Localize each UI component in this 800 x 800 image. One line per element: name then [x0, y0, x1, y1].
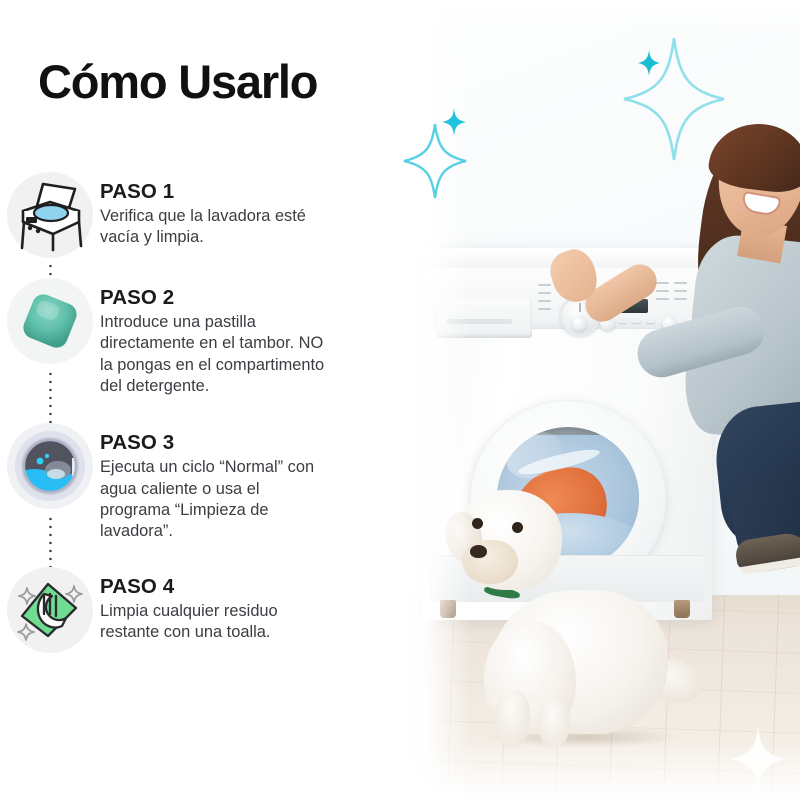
step-item-3: PASO 3 Ejecuta un ciclo “Normal” con agu… [0, 423, 400, 542]
step-2-body: Introduce una pastilla directamente en e… [100, 312, 328, 397]
step-3-body: Ejecuta un ciclo “Normal” con agua calie… [100, 457, 328, 542]
step-2-text: PASO 2 Introduce una pastilla directamen… [100, 278, 346, 397]
step-3-heading: PASO 3 [100, 431, 328, 455]
step-icon-column [0, 172, 100, 258]
step-item-4: PASO 4 Limpia cualquier residuo restante… [0, 567, 400, 653]
step-icon-column [0, 278, 100, 364]
step-3-icon-circle [7, 423, 93, 509]
photo-bottom-fade [400, 740, 800, 800]
infographic-root: Cómo Usarlo [0, 0, 800, 800]
hand-with-cloth-icon [14, 574, 86, 646]
step-4-icon-circle [7, 567, 93, 653]
step-2-heading: PASO 2 [100, 286, 328, 310]
dog-eye [512, 522, 523, 533]
dog-eye [472, 518, 483, 529]
page-title: Cómo Usarlo [38, 57, 317, 106]
step-icon-column [0, 423, 100, 509]
step-4-heading: PASO 4 [100, 575, 328, 599]
step-1-text: PASO 1 Verifica que la lavadora esté vac… [100, 172, 346, 249]
step-1-body: Verifica que la lavadora esté vacía y li… [100, 206, 328, 249]
step-2-icon-circle [7, 278, 93, 364]
detergent-tablet-icon [15, 286, 85, 356]
step-item-2: PASO 2 Introduce una pastilla directamen… [0, 278, 400, 397]
step-1-heading: PASO 1 [100, 180, 328, 204]
dog-nose [470, 545, 487, 558]
dog-muzzle [462, 540, 518, 584]
step-connector-dotted-line [49, 515, 52, 571]
step-item-1: PASO 1 Verifica que la lavadora esté vac… [0, 172, 400, 258]
photo-left-fade [400, 0, 470, 800]
step-1-icon-circle [7, 172, 93, 258]
step-3-text: PASO 3 Ejecuta un ciclo “Normal” con agu… [100, 423, 346, 542]
step-4-text: PASO 4 Limpia cualquier residuo restante… [100, 567, 346, 644]
step-icon-column [0, 567, 100, 653]
steps-list: PASO 1 Verifica que la lavadora esté vac… [0, 172, 400, 653]
product-lifestyle-photo [400, 0, 800, 800]
photo-top-fade [400, 0, 800, 30]
washer-drum-with-water-icon [12, 428, 88, 504]
step-4-body: Limpia cualquier residuo restante con un… [100, 601, 328, 644]
top-load-washer-open-lid-icon [13, 178, 87, 252]
